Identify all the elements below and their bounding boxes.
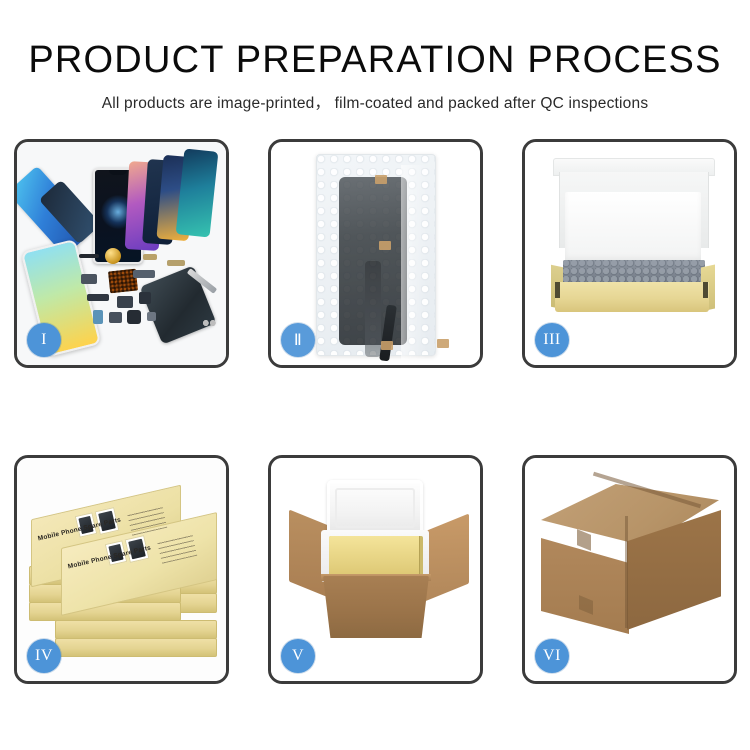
spare-part-icon <box>117 296 133 308</box>
step-badge-3: III <box>535 323 569 357</box>
tape-icon <box>437 339 449 348</box>
carton-left-face-icon <box>541 538 629 634</box>
spare-part-icon <box>133 270 155 278</box>
spare-part-icon <box>93 310 103 324</box>
step-badge-5: V <box>281 639 315 673</box>
page-subtitle: All products are image-printed， film-coa… <box>0 91 750 113</box>
carton-front-icon <box>323 576 429 638</box>
step-badge-6: VI <box>535 639 569 673</box>
carton-tape-patch-icon <box>577 529 591 551</box>
step-card-2[interactable]: Ⅱ <box>268 139 483 368</box>
step-badge-1: I <box>27 323 61 357</box>
spare-part-icon <box>79 254 99 258</box>
tape-icon <box>379 241 391 250</box>
kraft-box-front-icon <box>555 282 709 312</box>
spare-part-icon <box>147 312 156 321</box>
spare-part-icon <box>81 274 97 284</box>
tape-icon <box>375 175 387 184</box>
white-foam-sheet-icon <box>565 192 701 262</box>
screws-icon <box>203 320 217 326</box>
gold-component-icon <box>105 248 121 264</box>
wrapped-screen-icon <box>339 177 407 345</box>
step-card-6[interactable]: VI <box>522 455 737 684</box>
tape-icon <box>381 341 393 350</box>
page-title: PRODUCT PREPARATION PROCESS <box>0 38 750 82</box>
stacked-box-icon <box>55 638 217 657</box>
spare-part-icon <box>143 254 157 260</box>
spare-part-icon <box>167 260 185 266</box>
process-step-grid: I Ⅱ III <box>14 139 737 684</box>
step-card-1[interactable]: I <box>14 139 229 368</box>
spare-part-icon <box>109 312 122 323</box>
step-card-3[interactable]: III <box>522 139 737 368</box>
yellow-boxes-icon <box>329 536 423 576</box>
bubble-wrap-sleeve-icon <box>316 154 436 356</box>
box-corner-shadow <box>555 282 560 298</box>
spare-part-icon <box>127 310 141 324</box>
carton-vertical-edge <box>625 516 628 628</box>
step-badge-4: IV <box>27 639 61 673</box>
spare-part-icon <box>139 292 151 304</box>
box-corner-shadow <box>703 282 708 298</box>
stacked-box-icon <box>55 620 217 639</box>
step-card-5[interactable]: V <box>268 455 483 684</box>
page-header: PRODUCT PREPARATION PROCESS All products… <box>0 0 750 113</box>
spare-part-icon <box>87 294 109 301</box>
box-stack: Mobile Phone Spare Parts Mobile Phone Sp… <box>25 474 223 664</box>
step-badge-2: Ⅱ <box>281 323 315 357</box>
step-card-4[interactable]: Mobile Phone Spare Parts Mobile Phone Sp… <box>14 455 229 684</box>
